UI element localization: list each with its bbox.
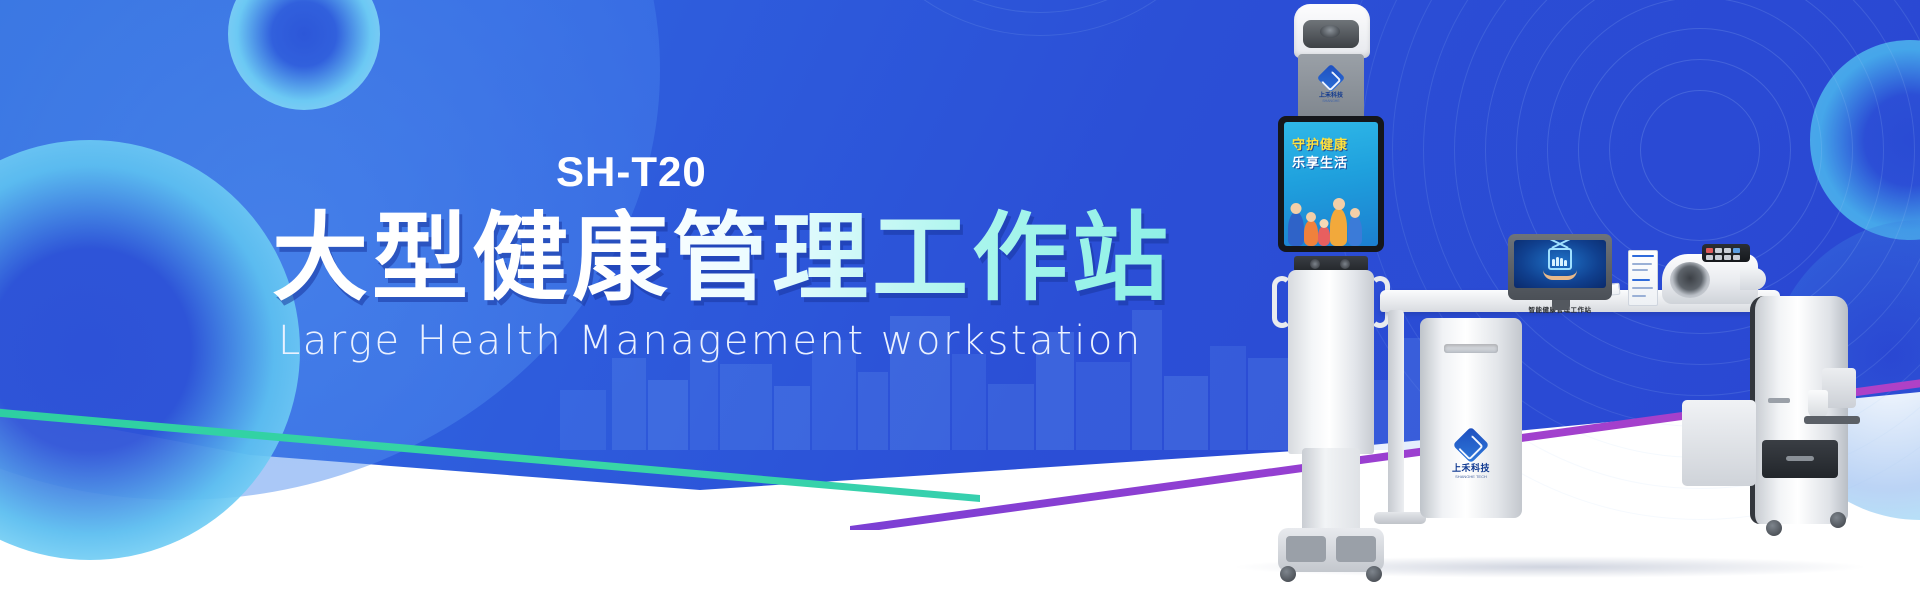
camera-lens-icon (1320, 25, 1340, 38)
tower-output-drawer[interactable] (1762, 440, 1838, 478)
instruction-card (1628, 250, 1658, 306)
hands-icon (1543, 270, 1577, 280)
figure-head (1333, 198, 1345, 210)
family-figure (1288, 212, 1304, 246)
kiosk-foot-pad-right (1336, 536, 1376, 562)
sensor-indicator-icon (1310, 259, 1320, 269)
tower-sample-cup (1808, 390, 1828, 418)
monitor-screen (1514, 240, 1606, 288)
caster-wheel-icon (1366, 566, 1382, 582)
card-line (1632, 295, 1646, 297)
tower-grip-bar (1804, 416, 1860, 424)
family-figure (1304, 220, 1318, 246)
skyline-building (1076, 362, 1130, 450)
family-figure (1318, 226, 1330, 246)
figure-head (1291, 203, 1302, 214)
sensor-indicator-icon (1340, 259, 1350, 269)
health-kiosk-tower: 上禾科技 SHANGHE 守护健康 乐享生活 (1272, 4, 1390, 588)
caster-wheel-icon (1766, 520, 1782, 536)
brand-diamond-icon (1317, 64, 1345, 92)
kiosk-brand-name-en: SHANGHE (1312, 99, 1350, 103)
bp-control-panel[interactable] (1702, 244, 1750, 262)
kiosk-advertisement-screen[interactable]: 守护健康 乐享生活 (1284, 122, 1378, 246)
bp-arm-cuff-opening (1670, 262, 1710, 298)
banner-copy-block: SH-T20 大型健康管理工作站 Large Health Management… (0, 0, 1040, 600)
cabinet-brand-name-en: SHANGHE TECH (1442, 474, 1500, 479)
equipment-storage-box (1682, 400, 1756, 486)
equipment-side-tower (1750, 296, 1848, 524)
desk-foot-left (1374, 512, 1426, 524)
card-line (1632, 269, 1648, 271)
product-banner: SH-T20 大型健康管理工作站 Large Health Management… (0, 0, 1920, 600)
product-equipment-illustration: 上禾科技 SHANGHE 守护健康 乐享生活 (1230, 0, 1920, 600)
figure-head (1320, 219, 1329, 228)
kiosk-ad-family-illustration (1284, 184, 1378, 246)
monitor-stand (1552, 300, 1570, 310)
product-model-code: SH-T20 (556, 148, 707, 196)
cabinet-card-slot[interactable] (1444, 344, 1498, 353)
kiosk-column (1302, 448, 1360, 532)
cabinet-brand-name-cn: 上禾科技 (1442, 461, 1500, 474)
card-line (1632, 263, 1652, 265)
kiosk-foot-pad-left (1286, 536, 1326, 562)
figure-head (1306, 212, 1316, 222)
kiosk-display-bezel: 守护健康 乐享生活 (1278, 116, 1384, 252)
card-line (1632, 287, 1653, 289)
page-title: 大型健康管理工作站 (272, 208, 1172, 309)
card-line (1632, 279, 1650, 281)
tower-indicator-strip (1768, 398, 1790, 403)
caster-wheel-icon (1830, 512, 1846, 528)
kiosk-ad-line-1: 守护健康 (1292, 134, 1348, 153)
kiosk-brand-logo: 上禾科技 SHANGHE (1312, 68, 1350, 108)
kiosk-ad-line-2: 乐享生活 (1292, 152, 1348, 171)
figure-head (1350, 208, 1360, 218)
family-figure (1330, 208, 1347, 246)
desk-leg-left (1388, 310, 1404, 520)
cabinet-brand-logo: 上禾科技 SHANGHE TECH (1442, 432, 1500, 479)
brand-diamond-icon (1453, 427, 1490, 464)
family-figure (1348, 216, 1362, 246)
page-subtitle: Large Health Management workstation (278, 318, 1143, 364)
card-line (1632, 255, 1654, 257)
people-icon (1552, 254, 1568, 266)
bp-side-wing (1740, 268, 1766, 290)
kiosk-body-panel (1288, 270, 1374, 454)
workstation-monitor[interactable]: 智能健康管理工作站 (1508, 234, 1612, 300)
skyline-building (1164, 376, 1208, 450)
caster-wheel-icon (1280, 566, 1296, 582)
